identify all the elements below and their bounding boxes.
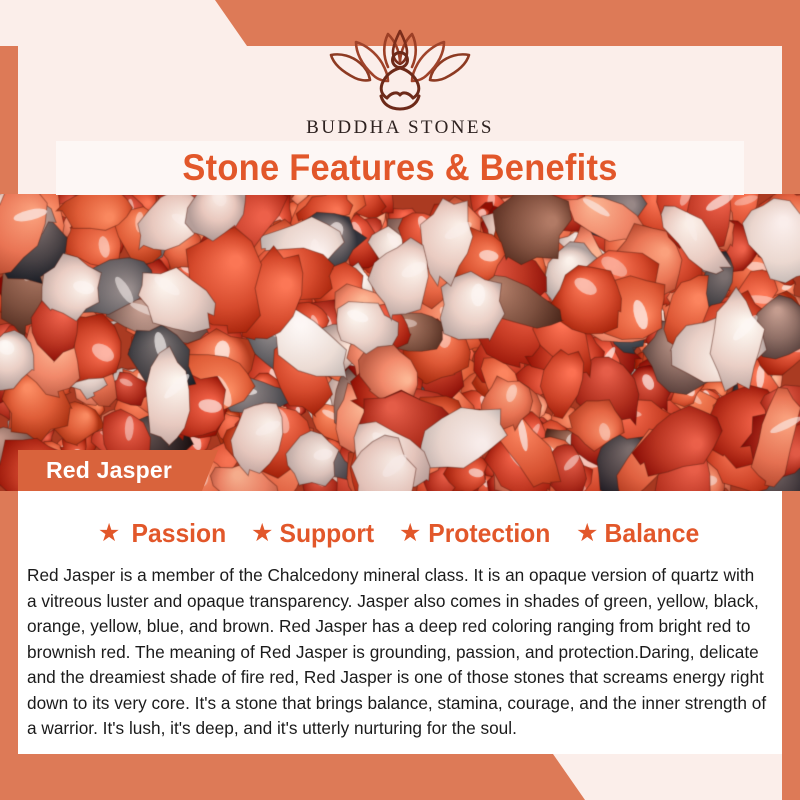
benefit-label: Support bbox=[280, 518, 375, 549]
lotus-buddha-icon bbox=[325, 22, 475, 114]
star-icon: ★ bbox=[98, 521, 120, 546]
benefit-label: Protection bbox=[429, 518, 551, 549]
stone-photo-canvas bbox=[0, 194, 800, 491]
title-band: Stone Features & Benefits bbox=[56, 141, 744, 195]
stone-name-label: Red Jasper bbox=[46, 457, 172, 484]
brand-header: BUDDHA STONES bbox=[0, 22, 800, 139]
stone-photo bbox=[0, 194, 800, 491]
stone-name-banner: Red Jasper bbox=[18, 450, 218, 491]
brand-name: BUDDHA STONES bbox=[0, 117, 800, 139]
benefit-label: Balance bbox=[605, 518, 700, 549]
benefit-item: ★Balance bbox=[576, 518, 702, 549]
benefit-item: ★Protection bbox=[399, 518, 554, 549]
benefit-label: Passion bbox=[132, 518, 227, 549]
benefits-row: ★Passion★Support★Protection★Balance bbox=[18, 518, 782, 549]
stone-description: Red Jasper is a member of the Chalcedony… bbox=[27, 563, 768, 742]
benefit-item: ★Passion bbox=[98, 518, 229, 549]
infographic-page: BUDDHA STONES Stone Features & Benefits … bbox=[0, 0, 800, 800]
page-title: Stone Features & Benefits bbox=[182, 147, 617, 189]
star-icon: ★ bbox=[399, 521, 421, 546]
star-icon: ★ bbox=[576, 521, 598, 546]
star-icon: ★ bbox=[251, 521, 273, 546]
benefit-item: ★Support bbox=[251, 518, 377, 549]
